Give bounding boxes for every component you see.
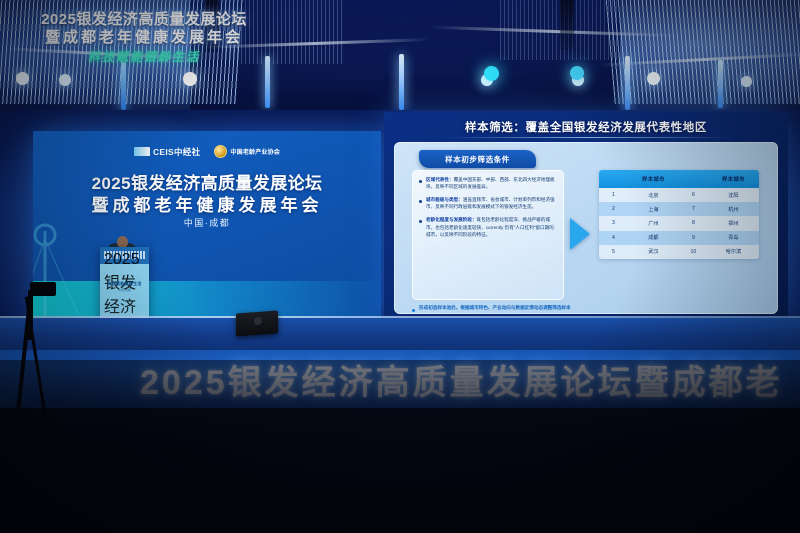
banner-tagline: 科技赋能银龄生活 xyxy=(24,51,264,64)
cell-index-b: 6 xyxy=(679,188,708,202)
cell-city-b: 沈阳 xyxy=(708,188,759,202)
association-emblem-icon xyxy=(214,145,227,158)
list-item: 老龄化程度与发展阶段：既包括老龄化程度深、挑战严峻的城市，也包括老龄化速度较快、… xyxy=(419,216,557,237)
bullet-dot-icon xyxy=(419,200,422,203)
audience-area: 陈江柳 陈岑 xyxy=(0,360,800,533)
slide-footnote: 形成初选样本池后，根据城市特色、产业动向与数据反馈动态调整筛选样本 xyxy=(412,305,662,312)
bullet-heading: 区域代表性： xyxy=(426,177,454,182)
cell-city-b: 哈尔滨 xyxy=(708,245,759,259)
table-row: 1 北京 6 沈阳 xyxy=(599,188,759,202)
table-header-index-a xyxy=(599,170,628,188)
banner-line-1: 2025银发经济高质量发展论坛 xyxy=(24,12,264,28)
left-screen-location: 中国·成都 xyxy=(33,216,381,229)
bullet-heading: 城市能级与类型： xyxy=(426,197,463,202)
cell-city-a: 成都 xyxy=(628,231,679,245)
cell-city-a: 广州 xyxy=(628,216,679,230)
sample-city-table: 样本城市 样本城市 1 北京 6 沈阳 2 xyxy=(599,170,759,259)
cell-index-a: 4 xyxy=(599,231,628,245)
ceis-logo: CEIS中经社 xyxy=(134,146,200,158)
cell-index-b: 10 xyxy=(679,245,708,259)
arrow-right-icon xyxy=(570,218,590,250)
slide-footnote-text: 形成初选样本池后，根据城市特色、产业动向与数据反馈动态调整筛选样本 xyxy=(419,305,571,312)
cell-index-a: 5 xyxy=(599,245,628,259)
bullet-dot-icon xyxy=(412,309,415,312)
cell-index-b: 7 xyxy=(679,202,708,216)
slide-ribbon-label: 样本初步筛选条件 xyxy=(419,150,536,168)
cell-city-a: 北京 xyxy=(628,188,679,202)
list-item: 区域代表性：覆盖中国东部、中部、西部、东北四大经济地理板块，反映不同区域的发展差… xyxy=(419,176,557,190)
left-projection-screen: CEIS中经社 中国老龄产业协会 2025银发经济高质量发展论坛 暨成都老年健康… xyxy=(33,131,381,323)
cell-city-b: 青岛 xyxy=(708,231,759,245)
ceiling-spotlight-1 xyxy=(16,72,29,85)
left-screen-title-line-2: 暨成都老年健康发展年会 xyxy=(33,191,381,216)
podium-brand-text: 科技赋能银龄生活 xyxy=(100,281,149,287)
criteria-list: 区域代表性：覆盖中国东部、中部、西部、东北四大经济地理板块，反映不同区域的发展差… xyxy=(412,170,564,300)
podium-header-text: 2025银发经济高质量发展论坛 xyxy=(104,251,145,259)
table-header-row: 样本城市 样本城市 xyxy=(599,170,759,188)
cell-city-a: 武汉 xyxy=(628,245,679,259)
ceiling-spotlight-6 xyxy=(647,72,660,85)
cell-index-b: 8 xyxy=(679,216,708,230)
slide-content-panel: 样本初步筛选条件 区域代表性：覆盖中国东部、中部、西部、东北四大经济地理板块，反… xyxy=(394,142,778,314)
ceis-mark-icon xyxy=(134,147,150,156)
table-header-city-a: 样本城市 xyxy=(628,170,679,188)
bullet-dot-icon xyxy=(419,180,422,183)
slide-title: 样本筛选：覆盖全国银发经济发展代表性地区 xyxy=(384,119,788,135)
bullet-heading: 老龄化程度与发展阶段： xyxy=(426,217,477,222)
cell-city-a: 上海 xyxy=(628,202,679,216)
association-logo: 中国老龄产业协会 xyxy=(214,145,280,158)
monitor-driver-icon xyxy=(254,317,262,326)
ceis-logo-text: CEIS中经社 xyxy=(153,146,200,158)
ceiling-spotlight-3 xyxy=(183,72,197,86)
ceiling-spotlight-cyan-2 xyxy=(570,66,584,80)
stage-monitor-speaker xyxy=(236,311,278,337)
table-header-city-b: 样本城市 xyxy=(708,170,759,188)
bullet-dot-icon xyxy=(419,220,422,223)
left-screen-logo-bar: CEIS中经社 中国老龄产业协会 xyxy=(33,145,381,158)
cell-index-a: 2 xyxy=(599,202,628,216)
cell-index-b: 9 xyxy=(679,231,708,245)
table-row: 4 成都 9 青岛 xyxy=(599,231,759,245)
right-projection-screen: 样本筛选：覆盖全国银发经济发展代表性地区 样本初步筛选条件 区域代表性：覆盖中国… xyxy=(384,112,788,320)
banner-line-2: 暨成都老年健康发展年会 xyxy=(24,30,264,46)
fiber-light-curtain-right xyxy=(605,0,800,104)
video-camera xyxy=(30,282,56,296)
ceiling-spotlight-cyan-1 xyxy=(484,66,499,81)
table-row: 2 上海 7 杭州 xyxy=(599,202,759,216)
ceiling-led-tube-3 xyxy=(399,54,404,110)
podium-brand-sub: 中国·成都 xyxy=(100,288,149,292)
conference-photo: 2025银发经济高质量发展论坛 暨成都老年健康发展年会 科技赋能银龄生活 CEI… xyxy=(0,0,800,533)
ribbon-text: 样本初步筛选条件 xyxy=(445,154,510,165)
association-logo-text: 中国老龄产业协会 xyxy=(230,147,280,156)
venue-banner: 2025银发经济高质量发展论坛 暨成都老年健康发展年会 科技赋能银龄生活 xyxy=(24,12,264,64)
ceiling-beam-right xyxy=(560,0,574,50)
list-item: 城市能级与类型：涵盖直辖市、省会城市、计划单列市和经济强市，反映不同行政层级和发… xyxy=(419,196,557,210)
table-header-index-b xyxy=(679,170,708,188)
slide-title-rule xyxy=(444,137,734,138)
tripod-column xyxy=(28,290,33,340)
cell-index-a: 1 xyxy=(599,188,628,202)
ceiling-led-tube-2 xyxy=(265,56,270,108)
cell-city-b: 杭州 xyxy=(708,202,759,216)
ceiling-spotlight-2 xyxy=(59,74,71,86)
cell-index-a: 3 xyxy=(599,216,628,230)
table-row: 3 广州 8 郑州 xyxy=(599,216,759,230)
table-row: 5 武汉 10 哈尔滨 xyxy=(599,245,759,259)
ceiling-spotlight-7 xyxy=(741,76,752,87)
cell-city-b: 郑州 xyxy=(708,216,759,230)
